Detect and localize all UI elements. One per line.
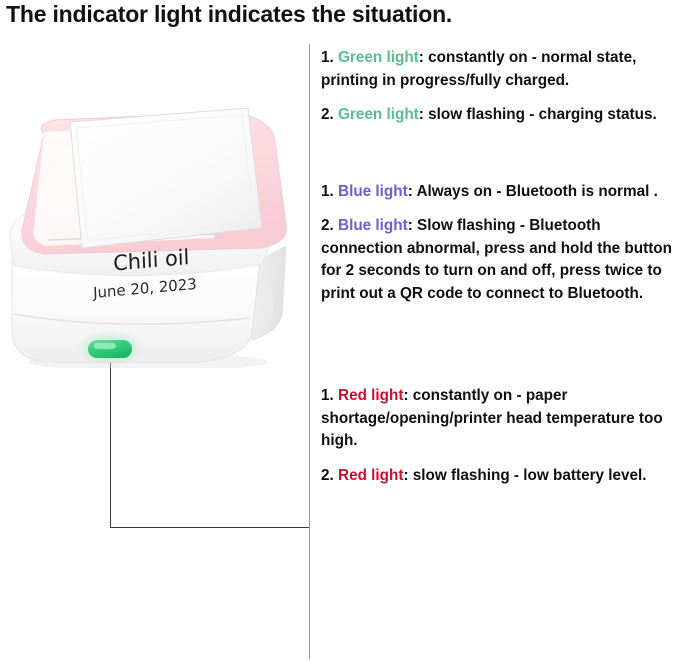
instruction-keyword: Green light [338,106,419,123]
instruction-keyword: Red light [338,387,403,404]
green-led-highlight [94,343,116,349]
paragraph-gap [321,203,679,215]
instruction-index: 2. [321,467,338,484]
instruction-green-2: 2. Green light: slow flashing - charging… [321,104,679,127]
section-gap [321,127,679,181]
printed-label-paper [70,108,262,248]
paragraph-gap [321,453,679,465]
paragraph-gap [321,92,679,104]
instruction-body: : Always on - Bluetooth is normal . [408,183,658,200]
printer-illustration: Chili oil June 20, 2023 [0,108,300,368]
instruction-index: 2. [321,217,338,234]
indicator-instructions-list: 1. Green light: constantly on - normal s… [321,47,679,487]
callout-leader-line-vertical [110,354,111,528]
instruction-body: : slow flashing - charging status. [419,106,657,123]
callout-leader-line-horizontal [110,527,309,528]
instruction-blue-1: 1. Blue light: Always on - Bluetooth is … [321,181,679,204]
instruction-red-2: 2. Red light: slow flashing - low batter… [321,465,679,488]
printer-side-port [266,288,273,314]
instruction-index: 1. [321,387,338,404]
instruction-keyword: Blue light [338,217,408,234]
instruction-keyword: Red light [338,467,403,484]
instruction-red-1: 1. Red light: constantly on - paper shor… [321,385,679,453]
instruction-keyword: Blue light [338,183,408,200]
instruction-index: 1. [321,183,338,200]
instruction-keyword: Green light [338,49,419,66]
section-gap [321,305,679,385]
vertical-divider [309,44,310,659]
instruction-body: : slow flashing - low battery level. [403,467,646,484]
instruction-index: 1. [321,49,338,66]
instruction-index: 2. [321,106,338,123]
instruction-blue-2: 2. Blue light: Slow flashing - Bluetooth… [321,215,679,305]
page-title: The indicator light indicates the situat… [6,1,452,28]
instruction-green-1: 1. Green light: constantly on - normal s… [321,47,679,92]
